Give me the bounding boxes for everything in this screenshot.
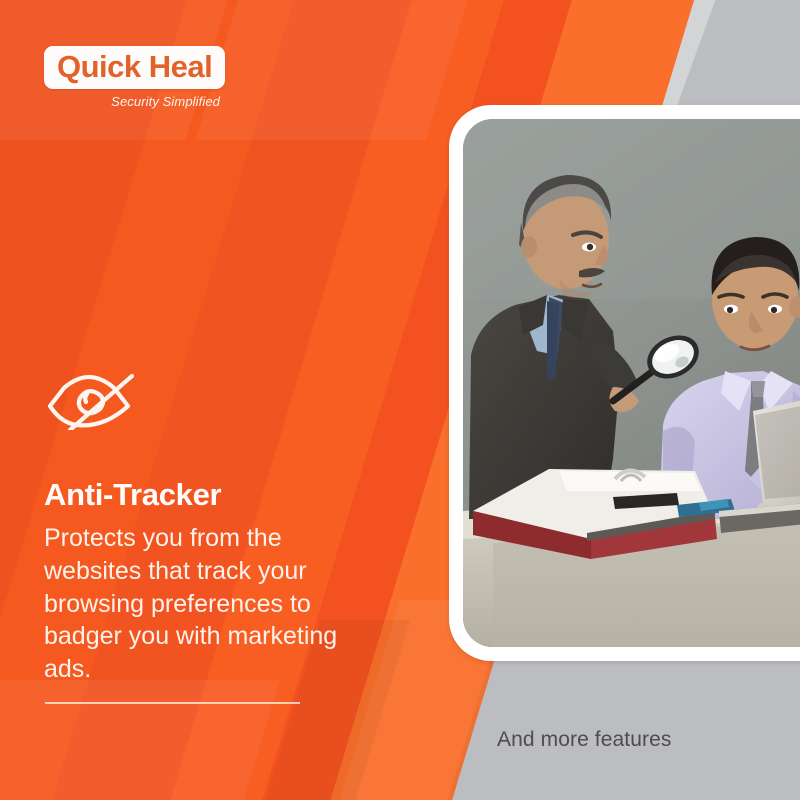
logo-tagline: Security Simplified — [44, 94, 220, 109]
footer-label: And more features — [497, 728, 671, 752]
photo-frame — [449, 105, 800, 661]
promo-card: Quick Heal Security Simplified Anti-Trac… — [0, 0, 800, 800]
feature-title: Anti-Tracker — [44, 477, 221, 513]
orange-highlight-3 — [0, 680, 280, 800]
divider-line — [45, 702, 300, 704]
logo-box: Quick Heal — [44, 46, 225, 89]
feature-description: Protects you from the websites that trac… — [44, 522, 362, 686]
photo-image — [463, 119, 800, 647]
eye-slash-icon — [44, 368, 136, 430]
brand-logo: Quick Heal Security Simplified — [44, 46, 294, 109]
logo-wordmark: Quick Heal — [57, 50, 212, 83]
